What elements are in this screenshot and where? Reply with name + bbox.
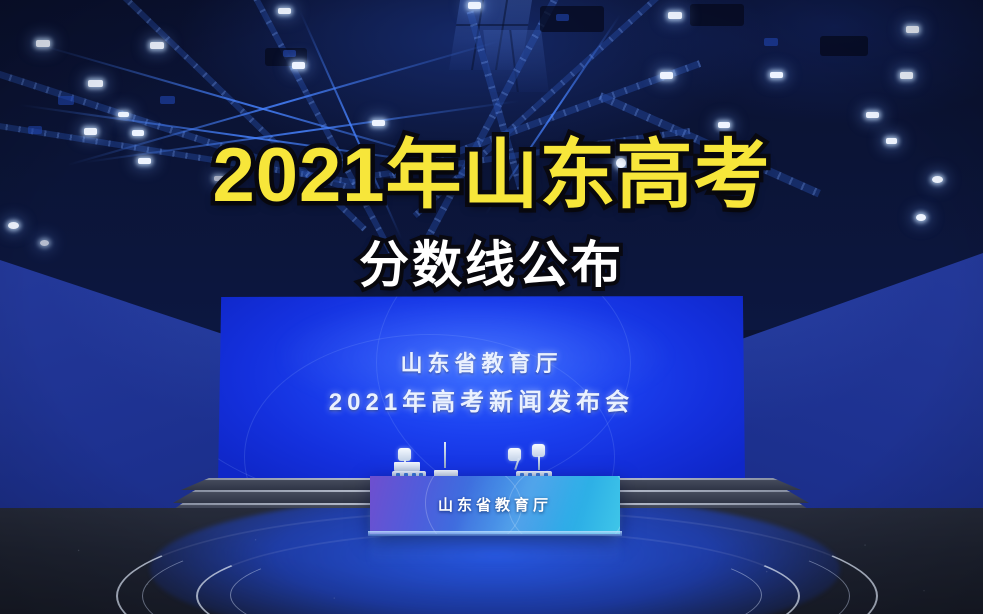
podium-label: 山东省教育厅 — [370, 494, 620, 515]
spotlight — [84, 128, 97, 135]
microphone-arm — [538, 456, 540, 470]
ceiling-rigging-block — [540, 6, 604, 32]
microphone-arm — [444, 442, 446, 468]
spotlight — [36, 40, 50, 47]
ceiling-blue-fixture — [160, 96, 175, 104]
screen-line-2: 2021年高考新闻发布会 — [218, 386, 745, 421]
ceiling-blue-fixture — [28, 126, 42, 134]
spotlight — [718, 122, 730, 128]
spotlight — [214, 176, 224, 181]
microphone-left — [392, 448, 436, 478]
ceiling-blue-fixture — [556, 14, 569, 21]
spotlight — [468, 2, 481, 9]
speaker-podium: 山东省教育厅 — [370, 476, 620, 534]
spotlight — [372, 120, 385, 126]
ceiling-rigging-block — [820, 36, 868, 56]
spotlight — [138, 158, 151, 164]
spotlight — [770, 72, 783, 78]
spotlight — [118, 112, 129, 117]
spotlight — [900, 72, 913, 79]
spotlight — [660, 72, 673, 79]
spotlight — [668, 12, 682, 19]
ceiling-rigging-block — [690, 4, 744, 26]
ceiling-blue-fixture — [283, 50, 296, 57]
ceiling-blue-fixture — [58, 96, 74, 105]
led-backdrop-screen: 山东省教育厅 2021年高考新闻发布会 — [218, 296, 745, 484]
truss-beam — [598, 92, 821, 197]
spotlight — [616, 158, 626, 168]
spotlight — [886, 138, 897, 144]
stage-photo: 山东省教育厅 2021年高考新闻发布会 — [0, 0, 983, 614]
spotlight — [278, 8, 291, 14]
screen-text-block: 山东省教育厅 2021年高考新闻发布会 — [218, 348, 745, 421]
spotlight — [932, 176, 943, 183]
microphone-right — [508, 444, 556, 478]
microphone-nameplate — [394, 462, 420, 471]
studio-ceiling — [0, 0, 983, 330]
spotlight — [916, 214, 926, 221]
spotlight — [132, 130, 144, 136]
spotlight — [8, 222, 19, 229]
spotlight — [292, 62, 305, 69]
spotlight — [866, 112, 879, 118]
ceiling-blue-fixture — [764, 38, 778, 46]
screen-line-1: 山东省教育厅 — [218, 348, 745, 380]
spotlight — [906, 26, 919, 33]
spotlight — [40, 240, 49, 246]
spotlight — [88, 80, 103, 87]
spotlight — [150, 42, 164, 49]
microphone-center-stem — [434, 442, 458, 478]
podium-base-lip — [368, 531, 622, 536]
ceiling-led-strip — [299, 11, 403, 240]
